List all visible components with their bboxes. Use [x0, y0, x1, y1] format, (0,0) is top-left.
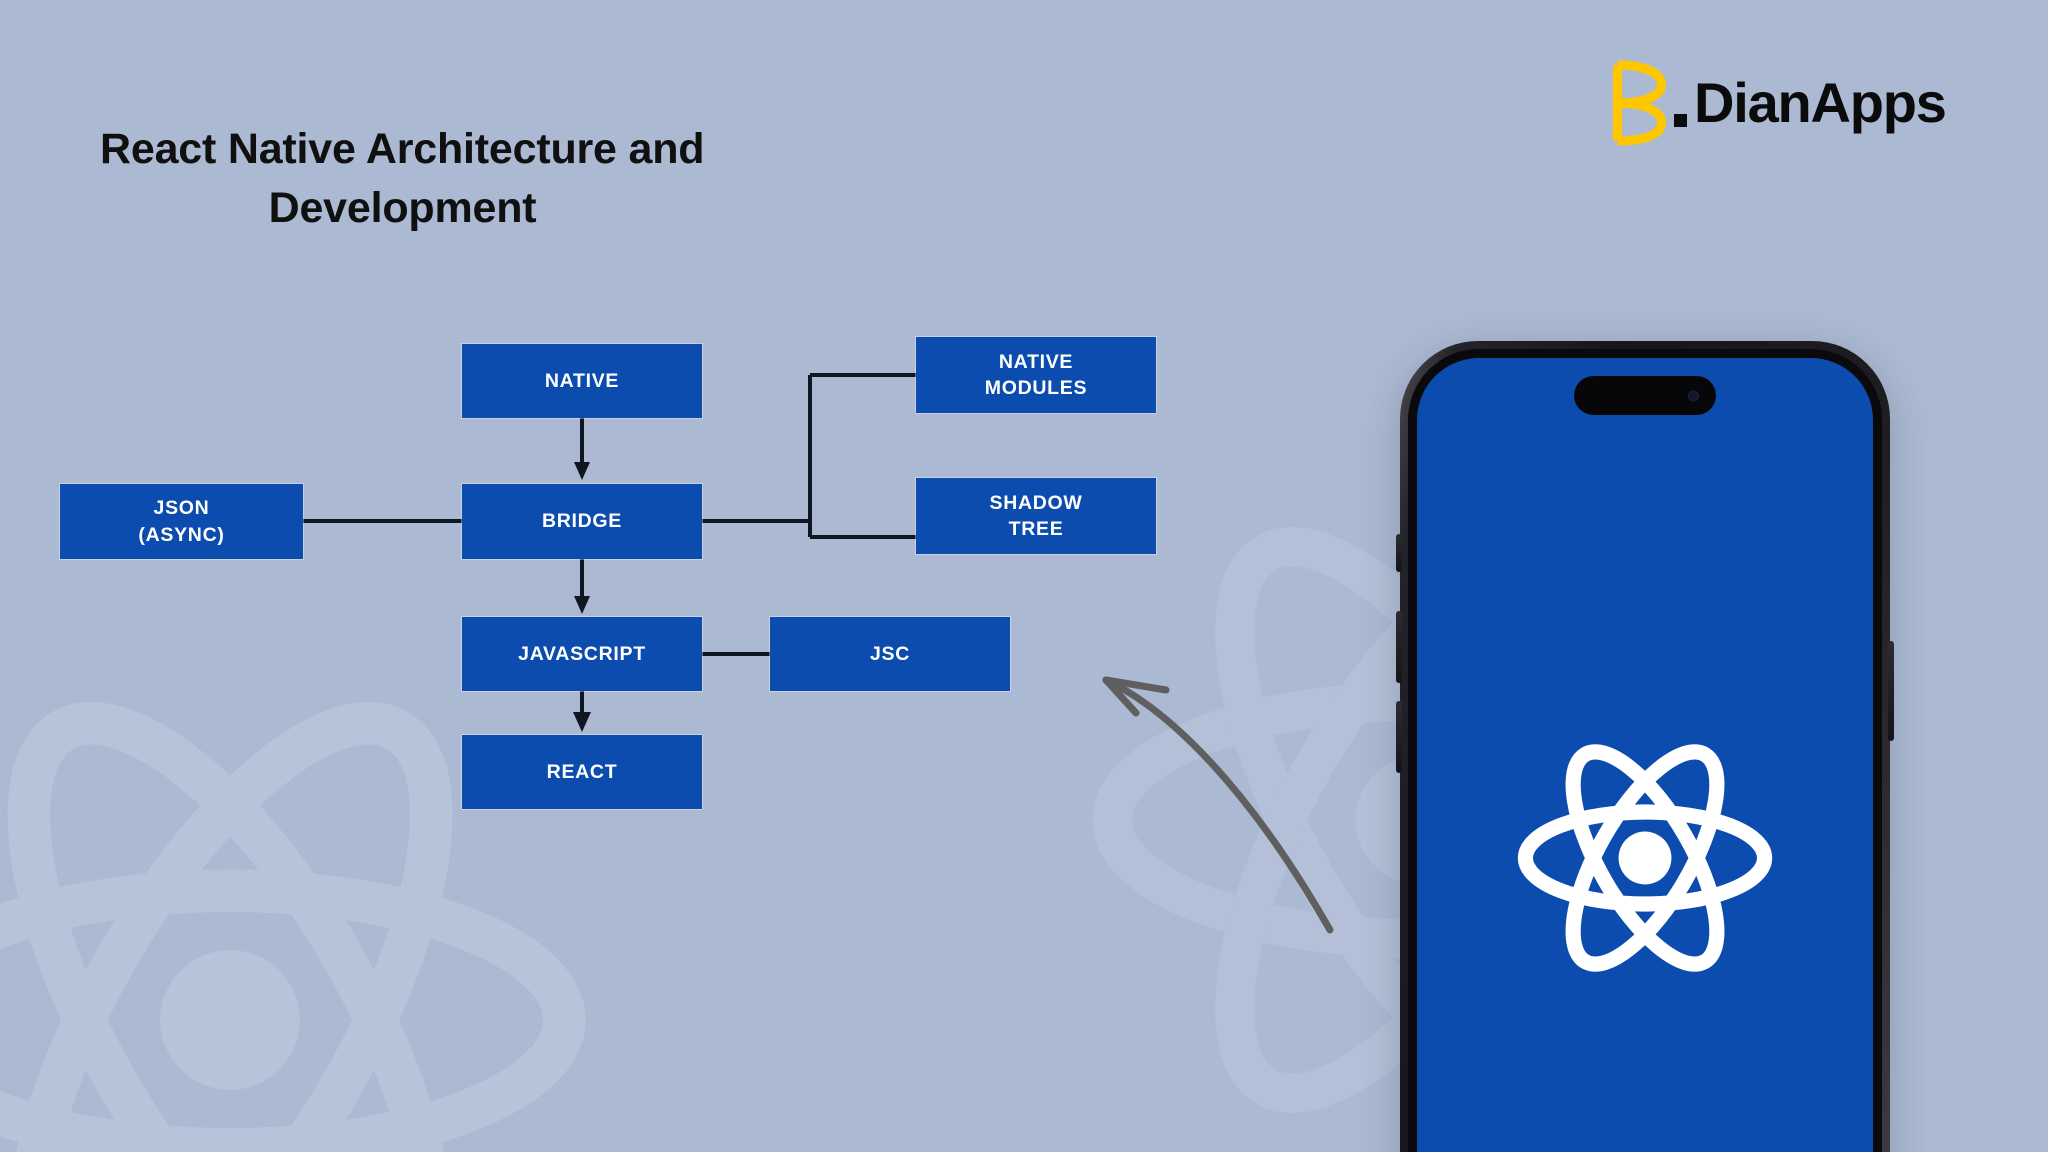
node-label: TREE: [1009, 516, 1064, 542]
brand-name: DianApps: [1694, 70, 1946, 135]
node-label: NATIVE: [545, 368, 619, 394]
power-button[interactable]: [1888, 641, 1894, 741]
node-label: (ASYNC): [138, 522, 224, 548]
diagram-node-native-modules[interactable]: NATIVE MODULES: [916, 337, 1156, 413]
node-label: JAVASCRIPT: [518, 641, 646, 667]
volume-up-button[interactable]: [1396, 611, 1402, 683]
diagram-node-jsc[interactable]: JSC: [770, 617, 1010, 691]
diagram-connectors: [0, 0, 1300, 1152]
silent-switch[interactable]: [1396, 534, 1402, 572]
diagram-node-bridge[interactable]: BRIDGE: [462, 484, 702, 559]
arrowhead-native-bridge: [574, 462, 590, 480]
front-camera-icon: [1688, 390, 1699, 401]
architecture-diagram: NATIVE JSON (ASYNC) BRIDGE JAVASCRIPT RE…: [0, 0, 1300, 1152]
node-label: JSC: [870, 641, 910, 667]
diagram-node-shadow-tree[interactable]: SHADOW TREE: [916, 478, 1156, 554]
dianapps-d-mark-icon: [1608, 59, 1672, 147]
diagram-node-json[interactable]: JSON (ASYNC): [60, 484, 303, 559]
node-label: BRIDGE: [542, 508, 622, 534]
react-atom-logo-icon: [1516, 743, 1774, 973]
arrowhead-javascript-react: [573, 712, 591, 732]
arrowhead-bridge-javascript: [574, 596, 590, 614]
phone-screen[interactable]: [1417, 358, 1873, 1152]
diagram-node-native[interactable]: NATIVE: [462, 344, 702, 418]
dynamic-island: [1574, 376, 1716, 415]
node-label: REACT: [547, 759, 618, 785]
node-label: JSON: [154, 495, 210, 521]
infographic-canvas: React Native Architecture and Developmen…: [0, 0, 2048, 1152]
node-label: NATIVE: [999, 349, 1073, 375]
node-label: MODULES: [985, 375, 1087, 401]
diagram-node-react[interactable]: REACT: [462, 735, 702, 809]
node-label: SHADOW: [989, 490, 1082, 516]
square-dot-icon: [1674, 114, 1687, 127]
diagram-node-javascript[interactable]: JAVASCRIPT: [462, 617, 702, 691]
curved-arrow-up-left-icon: [1080, 640, 1380, 940]
volume-down-button[interactable]: [1396, 701, 1402, 773]
brand-logo[interactable]: DianApps: [1608, 58, 1946, 148]
phone-mockup: [1400, 341, 1890, 1152]
